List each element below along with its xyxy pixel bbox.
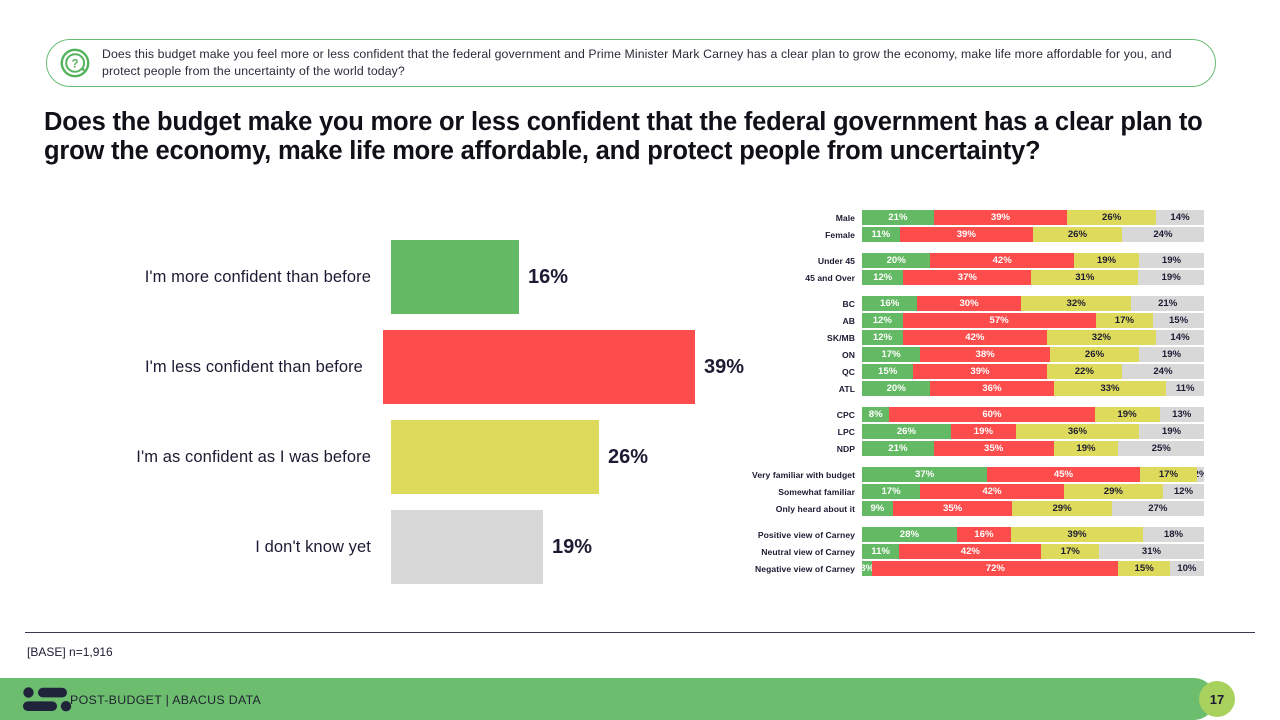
crosstab-segment: 2%	[1197, 467, 1204, 482]
crosstab-stacked-bar: 11%39%26%24%	[862, 227, 1204, 242]
crosstab-segment: 38%	[920, 347, 1050, 362]
base-note: [BASE] n=1,916	[27, 645, 113, 659]
crosstab-segment: 12%	[862, 330, 903, 345]
crosstab-segment: 19%	[1095, 407, 1160, 422]
crosstab-row: AB12%57%17%15%	[700, 313, 1220, 328]
crosstab-segment: 39%	[900, 227, 1033, 242]
crosstab-row-label: Negative view of Carney	[700, 564, 862, 574]
main-bar-row: I don't know yet19%	[44, 510, 744, 584]
crosstab-segment: 37%	[903, 270, 1031, 285]
crosstab-segment: 19%	[1139, 253, 1204, 268]
crosstab-segment: 26%	[1050, 347, 1139, 362]
crosstab-stacked-bar: 26%19%36%19%	[862, 424, 1204, 439]
crosstab-segment: 19%	[1139, 347, 1204, 362]
crosstab-group-age: Under 4520%42%19%19%45 and Over12%37%31%…	[700, 253, 1220, 285]
crosstab-row-label: BC	[700, 299, 862, 309]
main-bar-row: I'm more confident than before16%	[44, 240, 744, 314]
crosstab-segment: 12%	[862, 313, 903, 328]
crosstab-stacked-bar: 17%38%26%19%	[862, 347, 1204, 362]
svg-text:?: ?	[71, 58, 78, 70]
crosstab-row-label: ON	[700, 350, 862, 360]
question-callout: ? Does this budget make you feel more or…	[46, 39, 1216, 87]
crosstab-segment: 25%	[1118, 441, 1204, 456]
crosstab-row-label: 45 and Over	[700, 273, 862, 283]
crosstab-segment: 12%	[862, 270, 903, 285]
main-bar-value: 26%	[599, 446, 648, 469]
crosstab-group-party: CPC8%60%19%13%LPC26%19%36%19%NDP21%35%19…	[700, 407, 1220, 456]
footer-brand: POST-BUDGET | ABACUS DATA	[70, 693, 261, 707]
crosstab-row-label: NDP	[700, 444, 862, 454]
crosstab-segment: 45%	[987, 467, 1139, 482]
crosstab-stacked-bar: 16%30%32%21%	[862, 296, 1204, 311]
crosstab-segment: 33%	[1054, 381, 1167, 396]
crosstab-segment: 39%	[913, 364, 1046, 379]
main-bar	[391, 420, 599, 494]
crosstab-group-carney-view: Positive view of Carney28%16%39%18%Neutr…	[700, 527, 1220, 576]
crosstab-row-label: SK/MB	[700, 333, 862, 343]
crosstab-segment: 19%	[1138, 270, 1204, 285]
crosstab-segment: 21%	[862, 210, 934, 225]
crosstab-segment: 11%	[1166, 381, 1204, 396]
crosstab-stacked-bar: 12%42%32%14%	[862, 330, 1204, 345]
crosstab-row-label: Under 45	[700, 256, 862, 266]
crosstab-segment: 39%	[934, 210, 1067, 225]
crosstab-row: Under 4520%42%19%19%	[700, 253, 1220, 268]
crosstab-segment: 35%	[934, 441, 1054, 456]
main-bar-chart: I'm more confident than before16%I'm les…	[44, 240, 744, 600]
crosstab-segment: 29%	[1012, 501, 1111, 516]
crosstab-row-label: Somewhat familiar	[700, 487, 862, 497]
crosstab-stacked-bar: 20%36%33%11%	[862, 381, 1204, 396]
crosstab-row-label: Male	[700, 213, 862, 223]
page-title: Does the budget make you more or less co…	[44, 108, 1209, 166]
crosstab-segment: 21%	[862, 441, 934, 456]
crosstab-row-label: AB	[700, 316, 862, 326]
crosstab-segment: 30%	[917, 296, 1021, 311]
main-bar-label: I don't know yet	[44, 538, 391, 557]
crosstab-segment: 17%	[862, 347, 920, 362]
crosstab-segment: 36%	[930, 381, 1053, 396]
crosstab-chart: Male21%39%26%14%Female11%39%26%24%Under …	[700, 210, 1220, 595]
main-bar-row: I'm less confident than before39%	[44, 330, 744, 404]
crosstab-segment: 17%	[862, 484, 920, 499]
crosstab-segment: 29%	[1064, 484, 1163, 499]
crosstab-stacked-bar: 3%72%15%10%	[862, 561, 1204, 576]
crosstab-segment: 39%	[1011, 527, 1143, 542]
crosstab-row: LPC26%19%36%19%	[700, 424, 1220, 439]
crosstab-segment: 32%	[1047, 330, 1156, 345]
crosstab-row: ATL20%36%33%11%	[700, 381, 1220, 396]
question-text: Does this budget make you feel more or l…	[102, 46, 1215, 80]
crosstab-stacked-bar: 11%42%17%31%	[862, 544, 1204, 559]
crosstab-segment: 19%	[1139, 424, 1204, 439]
main-bar-label: I'm more confident than before	[44, 268, 391, 287]
crosstab-row: Female11%39%26%24%	[700, 227, 1220, 242]
crosstab-segment: 42%	[899, 544, 1041, 559]
main-bar	[383, 330, 695, 404]
crosstab-segment: 19%	[1074, 253, 1139, 268]
crosstab-segment: 36%	[1016, 424, 1139, 439]
crosstab-row-label: CPC	[700, 410, 862, 420]
crosstab-segment: 12%	[1163, 484, 1204, 499]
crosstab-segment: 8%	[862, 407, 889, 422]
crosstab-stacked-bar: 20%42%19%19%	[862, 253, 1204, 268]
crosstab-row-label: QC	[700, 367, 862, 377]
crosstab-segment: 26%	[862, 424, 951, 439]
crosstab-stacked-bar: 12%37%31%19%	[862, 270, 1204, 285]
crosstab-segment: 19%	[951, 424, 1016, 439]
crosstab-segment: 42%	[930, 253, 1074, 268]
crosstab-row: NDP21%35%19%25%	[700, 441, 1220, 456]
crosstab-stacked-bar: 8%60%19%13%	[862, 407, 1204, 422]
crosstab-stacked-bar: 21%39%26%14%	[862, 210, 1204, 225]
crosstab-segment: 42%	[903, 330, 1047, 345]
crosstab-segment: 17%	[1041, 544, 1099, 559]
question-bubble-icon: ?	[60, 48, 90, 78]
main-bar-value: 16%	[519, 266, 568, 289]
crosstab-segment: 20%	[862, 381, 930, 396]
crosstab-segment: 16%	[862, 296, 917, 311]
crosstab-row: Very familiar with budget37%45%17%2%	[700, 467, 1220, 482]
crosstab-segment: 15%	[1118, 561, 1169, 576]
crosstab-stacked-bar: 15%39%22%24%	[862, 364, 1204, 379]
crosstab-row: BC16%30%32%21%	[700, 296, 1220, 311]
crosstab-row: QC15%39%22%24%	[700, 364, 1220, 379]
crosstab-segment: 72%	[872, 561, 1118, 576]
crosstab-segment: 13%	[1160, 407, 1204, 422]
abacus-logo-icon	[22, 686, 76, 713]
crosstab-stacked-bar: 9%35%29%27%	[862, 501, 1204, 516]
crosstab-segment: 28%	[862, 527, 957, 542]
crosstab-segment: 17%	[1140, 467, 1198, 482]
page-number-badge: 17	[1199, 681, 1235, 717]
crosstab-row-label: Neutral view of Carney	[700, 547, 862, 557]
footer-divider	[25, 632, 1255, 633]
crosstab-row-label: Female	[700, 230, 862, 240]
crosstab-stacked-bar: 28%16%39%18%	[862, 527, 1204, 542]
crosstab-segment: 19%	[1054, 441, 1119, 456]
crosstab-segment: 37%	[862, 467, 987, 482]
crosstab-segment: 32%	[1021, 296, 1132, 311]
crosstab-row: Negative view of Carney3%72%15%10%	[700, 561, 1220, 576]
crosstab-stacked-bar: 37%45%17%2%	[862, 467, 1204, 482]
crosstab-segment: 22%	[1047, 364, 1122, 379]
crosstab-segment: 17%	[1096, 313, 1154, 328]
crosstab-group-region: BC16%30%32%21%AB12%57%17%15%SK/MB12%42%3…	[700, 296, 1220, 396]
crosstab-stacked-bar: 12%57%17%15%	[862, 313, 1204, 328]
crosstab-row: Positive view of Carney28%16%39%18%	[700, 527, 1220, 542]
crosstab-segment: 24%	[1122, 364, 1204, 379]
crosstab-segment: 16%	[957, 527, 1011, 542]
crosstab-segment: 24%	[1122, 227, 1204, 242]
crosstab-segment: 26%	[1067, 210, 1156, 225]
crosstab-segment: 15%	[1153, 313, 1204, 328]
crosstab-segment: 60%	[889, 407, 1094, 422]
crosstab-segment: 3%	[862, 561, 872, 576]
crosstab-segment: 42%	[920, 484, 1064, 499]
crosstab-segment: 11%	[862, 227, 900, 242]
crosstab-row: Only heard about it9%35%29%27%	[700, 501, 1220, 516]
crosstab-segment: 26%	[1033, 227, 1122, 242]
crosstab-segment: 35%	[893, 501, 1013, 516]
crosstab-segment: 20%	[862, 253, 930, 268]
crosstab-segment: 9%	[862, 501, 893, 516]
crosstab-segment: 14%	[1156, 210, 1204, 225]
crosstab-segment: 11%	[862, 544, 899, 559]
crosstab-group-budget-familiarity: Very familiar with budget37%45%17%2%Some…	[700, 467, 1220, 516]
main-bar-label: I'm as confident as I was before	[44, 448, 391, 467]
crosstab-group-gender: Male21%39%26%14%Female11%39%26%24%	[700, 210, 1220, 242]
crosstab-row: 45 and Over12%37%31%19%	[700, 270, 1220, 285]
crosstab-segment: 57%	[903, 313, 1096, 328]
crosstab-row: ON17%38%26%19%	[700, 347, 1220, 362]
crosstab-segment: 31%	[1031, 270, 1138, 285]
crosstab-segment: 10%	[1170, 561, 1204, 576]
main-bar	[391, 510, 543, 584]
crosstab-stacked-bar: 21%35%19%25%	[862, 441, 1204, 456]
crosstab-row: SK/MB12%42%32%14%	[700, 330, 1220, 345]
crosstab-row: Neutral view of Carney11%42%17%31%	[700, 544, 1220, 559]
crosstab-row: Somewhat familiar17%42%29%12%	[700, 484, 1220, 499]
crosstab-stacked-bar: 17%42%29%12%	[862, 484, 1204, 499]
main-bar	[391, 240, 519, 314]
crosstab-row-label: Only heard about it	[700, 504, 862, 514]
crosstab-segment: 27%	[1112, 501, 1204, 516]
crosstab-segment: 14%	[1156, 330, 1204, 345]
crosstab-segment: 21%	[1131, 296, 1204, 311]
crosstab-row-label: LPC	[700, 427, 862, 437]
crosstab-row-label: Very familiar with budget	[700, 470, 862, 480]
crosstab-segment: 15%	[862, 364, 913, 379]
main-bar-value: 19%	[543, 536, 592, 559]
crosstab-row: CPC8%60%19%13%	[700, 407, 1220, 422]
crosstab-row-label: Positive view of Carney	[700, 530, 862, 540]
crosstab-segment: 18%	[1143, 527, 1204, 542]
main-bar-row: I'm as confident as I was before26%	[44, 420, 744, 494]
crosstab-row-label: ATL	[700, 384, 862, 394]
main-bar-label: I'm less confident than before	[44, 358, 383, 377]
crosstab-row: Male21%39%26%14%	[700, 210, 1220, 225]
crosstab-segment: 31%	[1099, 544, 1204, 559]
